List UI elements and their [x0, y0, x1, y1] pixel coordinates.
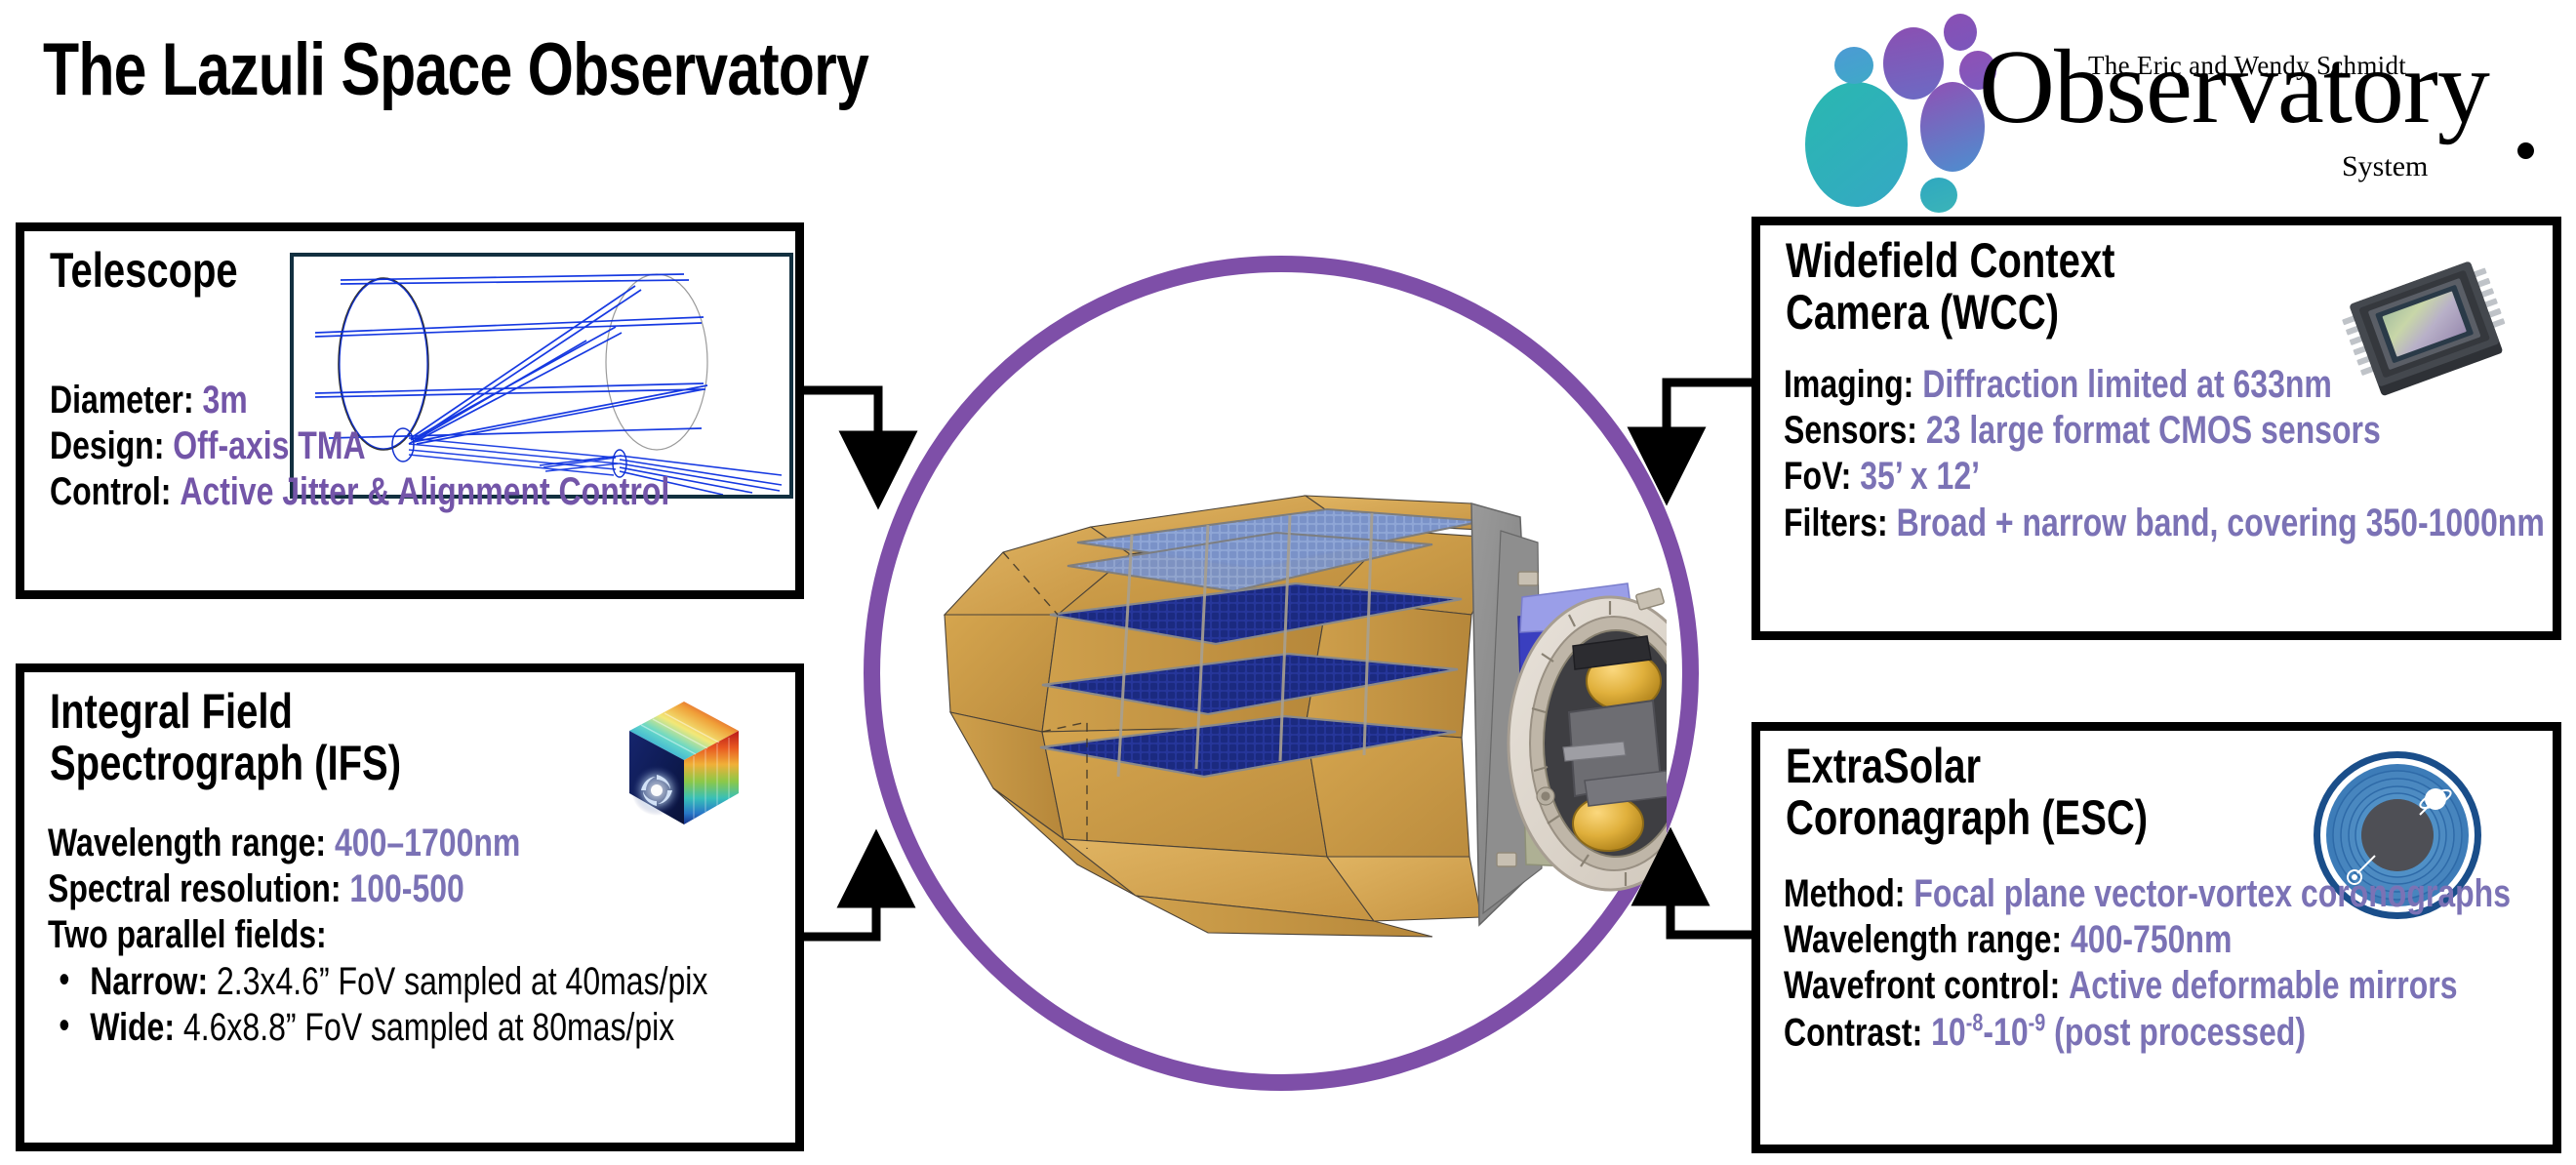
contrast-exp-2: -9 — [2029, 1011, 2046, 1037]
spec-row: Diameter: 3m — [50, 378, 669, 423]
spec-value: Active deformable mirrors — [2069, 964, 2457, 1007]
spec-row: FoV: 35’ x 12’ — [1784, 454, 2545, 500]
spec-label: Wavelength range: — [48, 822, 326, 864]
spectral-datacube-icon — [608, 688, 760, 840]
spec-row: Spectral resolution: 100-500 — [48, 866, 707, 912]
panel-ifs: Integral Field Spectrograph (IFS) — [16, 663, 804, 1151]
spec-label: Filters: — [1784, 502, 1888, 544]
ifs-fields-heading-label: Two parallel fields: — [48, 913, 327, 956]
logo-blob-small-left — [1834, 47, 1873, 84]
bullet-label: Narrow: — [90, 960, 208, 1003]
contrast-label: Contrast: — [1784, 1011, 1922, 1054]
panel-esc-title-line2: Coronagraph (ESC) — [1786, 792, 2148, 844]
panel-ifs-title-line1: Integral Field — [50, 686, 401, 738]
spec-value: Focal plane vector-vortex coronographs — [1913, 872, 2511, 915]
panel-wcc: Widefield Context Camera (WCC) — [1751, 217, 2561, 640]
spec-value: Broad + narrow band, covering 350-1000nm — [1897, 502, 2545, 544]
logo-blob-mid-right — [1920, 82, 1985, 172]
panel-wcc-title-line2: Camera (WCC) — [1786, 287, 2114, 339]
spec-row: Control: Active Jitter & Alignment Contr… — [50, 469, 669, 515]
logo-blob-large — [1805, 82, 1908, 207]
contrast-base-1: 10 — [1931, 1011, 1966, 1054]
page-title: The Lazuli Space Observatory — [43, 27, 868, 112]
spec-label: Spectral resolution: — [48, 867, 342, 910]
contrast-dash: - — [1983, 1011, 1993, 1054]
spec-row: Imaging: Diffraction limited at 633nm — [1784, 362, 2545, 408]
spec-row: Sensors: 23 large format CMOS sensors — [1784, 408, 2545, 454]
logo-line-main: Observatory — [1979, 27, 2489, 148]
spec-label: Diameter: — [50, 379, 194, 422]
spec-row: Wavelength range: 400-750nm — [1784, 917, 2511, 963]
spec-label: Wavelength range: — [1784, 918, 2062, 961]
logo-blob-small-top — [1944, 14, 1977, 51]
spec-row: Wavelength range: 400–1700nm — [48, 821, 707, 866]
spec-row-contrast: Contrast: 10-8-10-9 (post processed) — [1784, 1010, 2511, 1057]
panel-ifs-title-line2: Spectrograph (IFS) — [50, 738, 401, 789]
panel-telescope: Telescope — [16, 222, 804, 599]
panel-ifs-specs: Wavelength range: 400–1700nm Spectral re… — [48, 821, 872, 1051]
connector-wcc-to-spacecraft — [1667, 382, 1751, 466]
panel-esc-specs: Method: Focal plane vector-vortex corono… — [1784, 871, 2576, 1056]
spec-label: Design: — [50, 424, 164, 467]
spec-label: Method: — [1784, 872, 1905, 915]
spec-row: Wavefront control: Active deformable mir… — [1784, 963, 2511, 1009]
logo-dot-accent — [2517, 142, 2534, 159]
schmidt-observatory-logo: The Eric and Wendy Schmidt Observatory S… — [1776, 6, 2556, 201]
panel-esc: ExtraSolar Coronagraph (ESC) Me — [1751, 722, 2561, 1153]
spec-value: 35’ x 12’ — [1860, 455, 1980, 498]
bullet-value: 2.3x4.6” FoV sampled at 40mas/pix — [217, 960, 707, 1003]
logo-line-sub: System — [2342, 150, 2428, 183]
panel-esc-title-line1: ExtraSolar — [1786, 741, 2148, 792]
list-item: Wide: 4.6x8.8” FoV sampled at 80mas/pix — [48, 1005, 707, 1051]
panel-wcc-title: Widefield Context Camera (WCC) — [1786, 235, 2197, 339]
spec-value: 23 large format CMOS sensors — [1926, 409, 2381, 452]
contrast-exp-1: -8 — [1966, 1011, 1984, 1037]
logo-blob-mid-left — [1883, 27, 1944, 100]
spec-label: Wavefront control: — [1784, 964, 2060, 1007]
spec-label: Control: — [50, 470, 171, 513]
logo-blob-small-bottom — [1920, 178, 1957, 213]
spec-value: Off-axis TMA — [173, 424, 365, 467]
spec-label: Imaging: — [1784, 363, 1913, 406]
bullet-value: 4.6x8.8” FoV sampled at 80mas/pix — [183, 1006, 674, 1049]
panel-telescope-specs: Diameter: 3m Design: Off-axis TMA Contro… — [50, 378, 825, 516]
ifs-fields-heading: Two parallel fields: — [48, 912, 707, 958]
spec-value: Diffraction limited at 633nm — [1922, 363, 2332, 406]
spec-value: 3m — [203, 379, 248, 422]
spec-value: 100-500 — [349, 867, 463, 910]
contrast-suffix: (post processed) — [2045, 1011, 2306, 1054]
panel-wcc-specs: Imaging: Diffraction limited at 633nm Se… — [1784, 362, 2576, 546]
bullet-label: Wide: — [90, 1006, 175, 1049]
spec-value: 400–1700nm — [335, 822, 520, 864]
spec-label: Sensors: — [1784, 409, 1917, 452]
panel-esc-title: ExtraSolar Coronagraph (ESC) — [1786, 741, 2238, 844]
connector-esc-to-spacecraft — [1670, 866, 1751, 935]
spec-value: Active Jitter & Alignment Control — [180, 470, 669, 513]
panel-ifs-title: Integral Field Spectrograph (IFS) — [50, 686, 489, 789]
spec-row: Method: Focal plane vector-vortex corono… — [1784, 871, 2511, 917]
contrast-base-2: 10 — [1993, 1011, 2029, 1054]
spec-row: Design: Off-axis TMA — [50, 423, 669, 469]
panel-wcc-title-line1: Widefield Context — [1786, 235, 2114, 287]
spec-value: 400-750nm — [2071, 918, 2232, 961]
list-item: Narrow: 2.3x4.6” FoV sampled at 40mas/pi… — [48, 959, 707, 1005]
spec-row: Filters: Broad + narrow band, covering 3… — [1784, 501, 2545, 546]
lazuli-observatory-spacecraft-render — [886, 322, 1667, 1024]
spec-label: FoV: — [1784, 455, 1851, 498]
panel-telescope-title: Telescope — [50, 245, 238, 297]
